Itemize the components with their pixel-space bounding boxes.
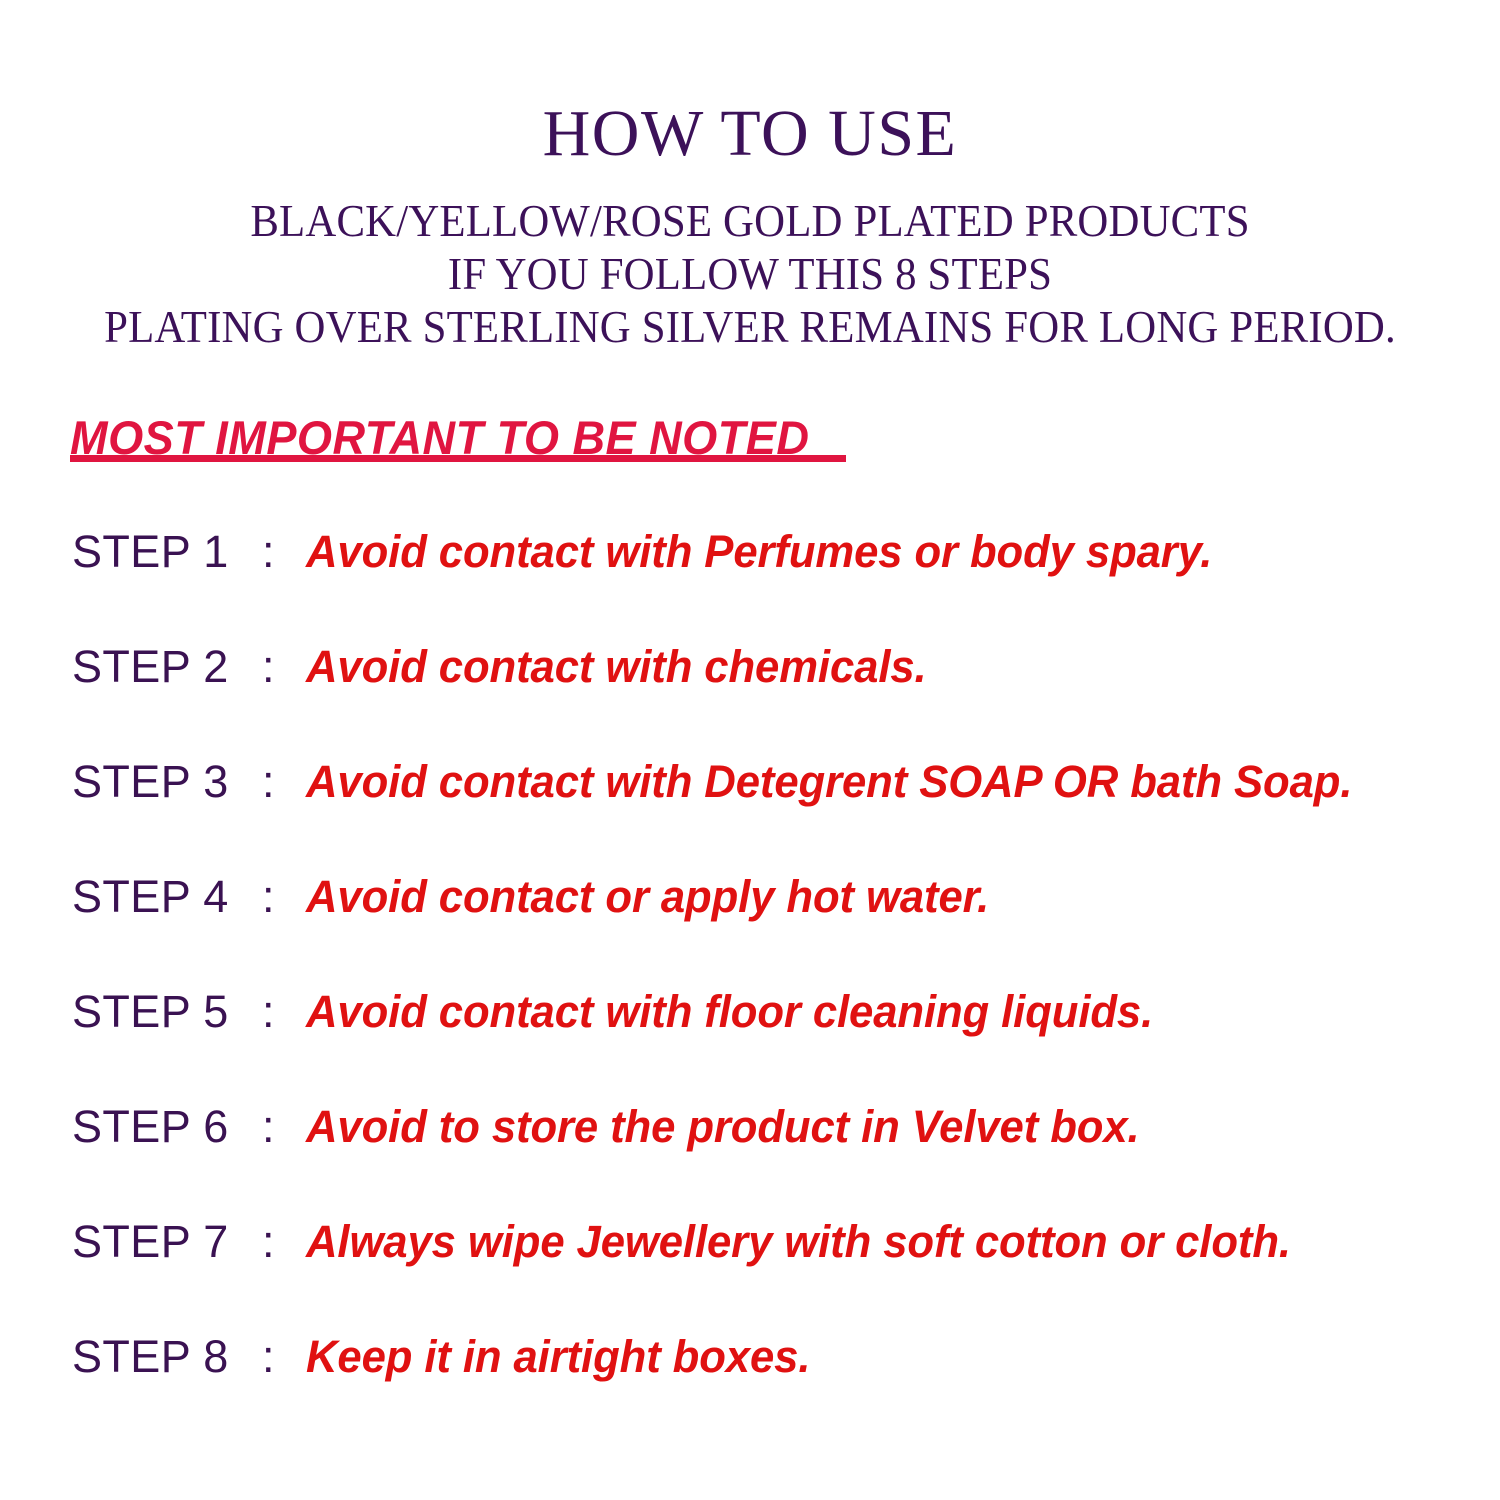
instruction-card: HOW TO USE BLACK/YELLOW/ROSE GOLD PLATED… xyxy=(0,0,1500,1500)
step-colon: : xyxy=(262,869,306,925)
page-title: HOW TO USE xyxy=(0,96,1500,172)
step-colon: : xyxy=(262,524,306,580)
step-row: STEP 6:Avoid to store the product in Vel… xyxy=(0,1099,1500,1214)
step-colon: : xyxy=(262,754,306,810)
step-label: STEP 5 xyxy=(72,984,262,1040)
step-colon: : xyxy=(262,1099,306,1155)
step-text: Avoid contact with Perfumes or body spar… xyxy=(306,524,1212,580)
step-text: Avoid to store the product in Velvet box… xyxy=(306,1099,1140,1155)
step-text: Avoid contact or apply hot water. xyxy=(306,869,989,925)
subtitle-line-2: IF YOU FOLLOW THIS 8 STEPS xyxy=(53,247,1448,300)
subtitle-line-1: BLACK/YELLOW/ROSE GOLD PLATED PRODUCTS xyxy=(53,194,1448,247)
step-row: STEP 4:Avoid contact or apply hot water. xyxy=(0,869,1500,984)
step-text: Avoid contact with chemicals. xyxy=(306,639,927,695)
subtitle-block: BLACK/YELLOW/ROSE GOLD PLATED PRODUCTS I… xyxy=(0,194,1500,353)
step-label: STEP 4 xyxy=(72,869,262,925)
step-text: Keep it in airtight boxes. xyxy=(306,1329,810,1385)
step-row: STEP 1:Avoid contact with Perfumes or bo… xyxy=(0,524,1500,639)
subtitle-line-3: PLATING OVER STERLING SILVER REMAINS FOR… xyxy=(53,300,1448,353)
step-colon: : xyxy=(262,984,306,1040)
step-label: STEP 3 xyxy=(72,754,262,810)
step-colon: : xyxy=(262,1329,306,1385)
step-row: STEP 5:Avoid contact with floor cleaning… xyxy=(0,984,1500,1099)
step-label: STEP 7 xyxy=(72,1214,262,1270)
step-row: STEP 3:Avoid contact with Detegrent SOAP… xyxy=(0,754,1500,869)
step-label: STEP 6 xyxy=(72,1099,262,1155)
notice-heading-underline xyxy=(70,455,846,462)
step-colon: : xyxy=(262,639,306,695)
step-text: Avoid contact with Detegrent SOAP OR bat… xyxy=(306,754,1352,810)
step-text: Always wipe Jewellery with soft cotton o… xyxy=(306,1214,1291,1270)
step-label: STEP 2 xyxy=(72,639,262,695)
step-row: STEP 2:Avoid contact with chemicals. xyxy=(0,639,1500,754)
step-text: Avoid contact with floor cleaning liquid… xyxy=(306,984,1153,1040)
step-row: STEP 7:Always wipe Jewellery with soft c… xyxy=(0,1214,1500,1329)
step-label: STEP 1 xyxy=(72,524,262,580)
header-block: HOW TO USE BLACK/YELLOW/ROSE GOLD PLATED… xyxy=(0,96,1500,353)
step-colon: : xyxy=(262,1214,306,1270)
steps-list: STEP 1:Avoid contact with Perfumes or bo… xyxy=(0,524,1500,1444)
step-row: STEP 8:Keep it in airtight boxes. xyxy=(0,1329,1500,1444)
step-label: STEP 8 xyxy=(72,1329,262,1385)
